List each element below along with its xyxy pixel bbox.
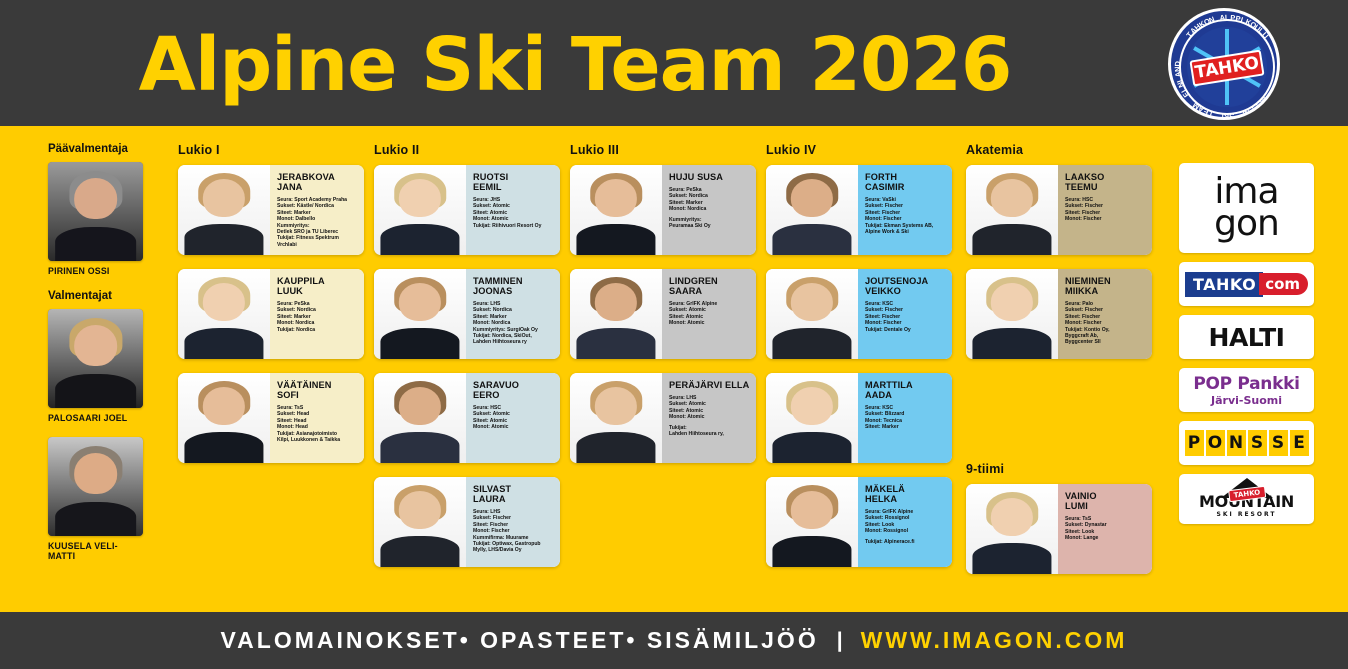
athlete-card[interactable]: PERÄJÄRVI ELLASeura: LHSSukset: AtomicSi… xyxy=(570,373,756,463)
athlete-card[interactable]: KAUPPILA LUUKSeura: PeSkaSukset: Nordica… xyxy=(178,269,364,359)
group-title: Lukio I xyxy=(178,143,364,157)
athlete-info: VAINIO LUMISeura: TsSSukset: DynastarSit… xyxy=(1058,484,1152,574)
coach-name: PIRINEN OSSI xyxy=(48,266,143,276)
spec-line: Peuramaa Ski Oy xyxy=(669,223,750,229)
athlete-card[interactable]: JOUTSENOJA VEIKKOSeura: KSCSukset: Fisch… xyxy=(766,269,952,359)
athlete-info: RUOTSI EEMILSeura: JHSSukset: AtomicSite… xyxy=(466,165,560,255)
group-title: Lukio II xyxy=(374,143,560,157)
athlete-info: LINDGREN SAARASeura: GrIFK AlpineSukset:… xyxy=(662,269,756,359)
pop-line1: POP Pankki xyxy=(1193,374,1299,394)
athlete-specs: Seura: TsSSukset: DynastarSiteet: LookMo… xyxy=(1065,516,1146,542)
athlete-photo xyxy=(178,269,270,359)
athlete-name: JOUTSENOJA VEIKKO xyxy=(865,276,946,296)
sponsor-pop-pankki[interactable]: POP Pankki Järvi-Suomi xyxy=(1179,368,1314,412)
spec-line: Monot: Atomic xyxy=(669,320,750,326)
ponsse-text: PONSSE xyxy=(1185,430,1309,456)
athlete-card[interactable]: LINDGREN SAARASeura: GrIFK AlpineSukset:… xyxy=(570,269,756,359)
athlete-photo xyxy=(178,165,270,255)
group-title: 9-tiimi xyxy=(966,462,1152,476)
spec-line: Mylly, LHS/Davia Oy xyxy=(473,547,554,553)
header-bar: Alpine Ski Team 2026 TAHKON ALPPIKOULUAL… xyxy=(0,0,1348,126)
athlete-name: KAUPPILA LUUK xyxy=(277,276,358,296)
halti-text: HALTI xyxy=(1209,323,1285,352)
athlete-photo xyxy=(766,477,858,567)
athlete-name: TAMMINEN JOONAS xyxy=(473,276,554,296)
footer-bar: VALOMAINOKSET• OPASTEET• SISÄMILJÖÖ | WW… xyxy=(0,612,1348,669)
spec-line: Byggcenter Sll xyxy=(1065,339,1146,345)
athlete-specs: Seura: HSCSukset: FischerSiteet: Fischer… xyxy=(1065,197,1146,223)
spec-line: Lahden Hiihtoseura ry xyxy=(473,339,554,345)
sponsor-tahko-com[interactable]: TAHKO com xyxy=(1179,262,1314,306)
athlete-photo xyxy=(570,165,662,255)
athlete-info: SILVAST LAURASeura: LHSSukset: FischerSi… xyxy=(466,477,560,567)
athlete-name: SILVAST LAURA xyxy=(473,484,554,504)
athlete-info: KAUPPILA LUUKSeura: PeSkaSukset: Nordica… xyxy=(270,269,364,359)
spec-line: Lahden Hiihtoseura ry, xyxy=(669,431,750,437)
athlete-photo xyxy=(766,269,858,359)
athlete-info: LAAKSO TEEMUSeura: HSCSukset: FischerSit… xyxy=(1058,165,1152,255)
page-title: Alpine Ski Team 2026 xyxy=(0,22,1150,108)
athlete-name: RUOTSI EEMIL xyxy=(473,172,554,192)
spec-line: Tukijat: Nordica xyxy=(277,327,358,333)
group-column-9-tiimi: 9-tiimiVAINIO LUMISeura: TsSSukset: Dyna… xyxy=(966,462,1152,588)
athlete-card[interactable]: FORTH CASIMIRSeura: VaSkiSukset: Fischer… xyxy=(766,165,952,255)
athlete-name: NIEMINEN MIIKKA xyxy=(1065,276,1146,296)
coach-card-1[interactable]: KUUSELA VELI-MATTI xyxy=(48,437,143,561)
athlete-info: FORTH CASIMIRSeura: VaSkiSukset: Fischer… xyxy=(858,165,952,255)
athlete-specs: Seura: JHSSukset: AtomicSiteet: AtomicMo… xyxy=(473,197,554,229)
ponsse-letter: S xyxy=(1248,430,1267,456)
athlete-info: NIEMINEN MIIKKASeura: PaloSukset: Fische… xyxy=(1058,269,1152,359)
athlete-name: MÄKELÄ HELKA xyxy=(865,484,946,504)
tahkocom-part2: com xyxy=(1259,273,1308,295)
athlete-card[interactable]: LAAKSO TEEMUSeura: HSCSukset: FischerSit… xyxy=(966,165,1152,255)
athlete-specs: Seura: LHSSukset: AtomicSiteet: AtomicMo… xyxy=(669,395,750,437)
athlete-specs: Seura: PaloSukset: FischerSiteet: Fische… xyxy=(1065,301,1146,346)
athlete-photo xyxy=(374,269,466,359)
athlete-photo xyxy=(570,269,662,359)
sponsor-halti[interactable]: HALTI xyxy=(1179,315,1314,359)
athlete-specs: Seura: TsSSukset: HeadSiteet: HeadMonot:… xyxy=(277,405,358,443)
athlete-info: MARTTILA AADASeura: KSCSukset: BlizzardM… xyxy=(858,373,952,463)
ponsse-letter: N xyxy=(1227,430,1246,456)
athlete-info: MÄKELÄ HELKASeura: GrIFK AlpineSukset: R… xyxy=(858,477,952,567)
group-title: Akatemia xyxy=(966,143,1152,157)
athlete-name: MARTTILA AADA xyxy=(865,380,946,400)
athlete-photo xyxy=(766,373,858,463)
sponsor-column: ima gon TAHKO com HALTI POP Pankki Järvi… xyxy=(1179,163,1314,533)
coach-card-head[interactable]: PIRINEN OSSI xyxy=(48,162,143,276)
athlete-info: JOUTSENOJA VEIKKOSeura: KSCSukset: Fisch… xyxy=(858,269,952,359)
tahko-alpine-school-logo: TAHKON ALPPIKOULUALPINE SKI TEAM FINLAND… xyxy=(1168,8,1280,120)
athlete-specs: Seura: Sport Academy PrahaSukset: Kästle… xyxy=(277,197,358,248)
athlete-specs: Seura: LHSSukset: FischerSiteet: Fischer… xyxy=(473,509,554,554)
spec-line: Tukijat: Alpinerace.fi xyxy=(865,539,946,545)
coach-name: KUUSELA VELI-MATTI xyxy=(48,541,143,561)
athlete-photo xyxy=(374,165,466,255)
athlete-card[interactable]: SILVAST LAURASeura: LHSSukset: FischerSi… xyxy=(374,477,560,567)
group-column-akatemia: AkatemiaLAAKSO TEEMUSeura: HSCSukset: Fi… xyxy=(966,143,1152,373)
athlete-name: VÄÄTÄINEN SOFI xyxy=(277,380,358,400)
athlete-specs: Seura: GrIFK AlpineSukset: RossignolSite… xyxy=(865,509,946,545)
athlete-specs: Seura: HSCSukset: AtomicSiteet: AtomicMo… xyxy=(473,405,554,431)
coach-photo xyxy=(48,309,143,408)
athlete-info: PERÄJÄRVI ELLASeura: LHSSukset: AtomicSi… xyxy=(662,373,756,463)
head-coach-title: Päävalmentaja xyxy=(48,143,168,155)
athlete-name: SARAVUO EERO xyxy=(473,380,554,400)
athlete-name: LAAKSO TEEMU xyxy=(1065,172,1146,192)
athlete-photo xyxy=(766,165,858,255)
athlete-info: TAMMINEN JOONASSeura: LHSSukset: Nordica… xyxy=(466,269,560,359)
athlete-specs: Seura: VaSkiSukset: FischerSiteet: Fisch… xyxy=(865,197,946,235)
athlete-info: JERABKOVA JANASeura: Sport Academy Praha… xyxy=(270,165,364,255)
athlete-card[interactable]: VÄÄTÄINEN SOFISeura: TsSSukset: HeadSite… xyxy=(178,373,364,463)
spec-line: Tukijat: Dentale Oy xyxy=(865,327,946,333)
spec-line: Kilpi, Luukkonen & Taikka xyxy=(277,437,358,443)
athlete-photo xyxy=(966,269,1058,359)
athlete-info: SARAVUO EEROSeura: HSCSukset: AtomicSite… xyxy=(466,373,560,463)
athlete-photo xyxy=(966,484,1058,574)
coach-name: PALOSAARI JOEL xyxy=(48,413,143,423)
coaches-column: Päävalmentaja PIRINEN OSSI Valmentajat P… xyxy=(48,143,168,575)
spec-line: Monot: Lange xyxy=(1065,535,1146,541)
imagon-line2: gon xyxy=(1214,208,1279,240)
spec-line: Monot: Atomic xyxy=(473,424,554,430)
spec-line: Tukijat: Riihivuori Resort Oy xyxy=(473,223,554,229)
spec-line: Monot: Fischer xyxy=(1065,216,1146,222)
athlete-specs: Seura: KSCSukset: BlizzardMonot: Tecnica… xyxy=(865,405,946,431)
athlete-info: HUJU SUSASeura: PeSkaSukset: NordicaSite… xyxy=(662,165,756,255)
athlete-name: PERÄJÄRVI ELLA xyxy=(669,380,750,390)
athlete-photo xyxy=(178,373,270,463)
coach-photo xyxy=(48,162,143,261)
athlete-card[interactable]: JERABKOVA JANASeura: Sport Academy Praha… xyxy=(178,165,364,255)
ponsse-letter: P xyxy=(1185,430,1204,456)
coach-card-0[interactable]: PALOSAARI JOEL xyxy=(48,309,143,423)
mountain-line2: SKI RESORT xyxy=(1199,511,1294,518)
tahkocom-part1: TAHKO xyxy=(1185,272,1263,297)
spec-line: Siteet: Marker xyxy=(865,424,946,430)
footer-website[interactable]: WWW.IMAGON.COM xyxy=(861,627,1128,654)
athlete-card[interactable]: TAMMINEN JOONASSeura: LHSSukset: Nordica… xyxy=(374,269,560,359)
athlete-card[interactable]: MARTTILA AADASeura: KSCSukset: BlizzardM… xyxy=(766,373,952,463)
ponsse-letter: S xyxy=(1269,430,1288,456)
athlete-card[interactable]: RUOTSI EEMILSeura: JHSSukset: AtomicSite… xyxy=(374,165,560,255)
group-title: Lukio IV xyxy=(766,143,952,157)
athlete-card[interactable]: VAINIO LUMISeura: TsSSukset: DynastarSit… xyxy=(966,484,1152,574)
athlete-specs: Seura: LHSSukset: NordicaSiteet: MarkerM… xyxy=(473,301,554,346)
coaches-title: Valmentajat xyxy=(48,290,168,302)
athlete-name: JERABKOVA JANA xyxy=(277,172,358,192)
group-column-lukio-iv: Lukio IVFORTH CASIMIRSeura: VaSkiSukset:… xyxy=(766,143,952,581)
athlete-photo xyxy=(374,373,466,463)
athlete-card[interactable]: HUJU SUSASeura: PeSkaSukset: NordicaSite… xyxy=(570,165,756,255)
footer-separator: | xyxy=(837,629,843,653)
athlete-photo xyxy=(570,373,662,463)
athlete-name: VAINIO LUMI xyxy=(1065,491,1146,511)
athlete-card[interactable]: NIEMINEN MIIKKASeura: PaloSukset: Fische… xyxy=(966,269,1152,359)
athlete-photo xyxy=(374,477,466,567)
athlete-card[interactable]: SARAVUO EEROSeura: HSCSukset: AtomicSite… xyxy=(374,373,560,463)
sponsor-tahko-mountain[interactable]: TAHKO MOUNTAIN SKI RESORT xyxy=(1179,474,1314,524)
sponsor-imagon[interactable]: ima gon xyxy=(1179,163,1314,253)
athlete-specs: Seura: PeSkaSukset: NordicaSiteet: Marke… xyxy=(669,187,750,229)
ponsse-letter: O xyxy=(1206,430,1225,456)
athlete-card[interactable]: MÄKELÄ HELKASeura: GrIFK AlpineSukset: R… xyxy=(766,477,952,567)
coach-photo xyxy=(48,437,143,536)
group-column-lukio-iii: Lukio IIIHUJU SUSASeura: PeSkaSukset: No… xyxy=(570,143,756,477)
ponsse-letter: E xyxy=(1290,430,1309,456)
sponsor-ponsse[interactable]: PONSSE xyxy=(1179,421,1314,465)
athlete-specs: Seura: KSCSukset: FischerSiteet: Fischer… xyxy=(865,301,946,333)
group-title: Lukio III xyxy=(570,143,756,157)
footer-services: VALOMAINOKSET• OPASTEET• SISÄMILJÖÖ xyxy=(221,627,819,654)
athlete-specs: Seura: PeSkaSukset: NordicaSiteet: Marke… xyxy=(277,301,358,333)
pop-line2: Järvi-Suomi xyxy=(1193,394,1299,407)
athlete-specs: Seura: GrIFK AlpineSukset: AtomicSiteet:… xyxy=(669,301,750,327)
athlete-photo xyxy=(966,165,1058,255)
spec-line: Vrchlabi xyxy=(277,242,358,248)
athlete-name: LINDGREN SAARA xyxy=(669,276,750,296)
athlete-name: HUJU SUSA xyxy=(669,172,750,182)
spec-line: Alpine Work & Ski xyxy=(865,229,946,235)
athlete-name: FORTH CASIMIR xyxy=(865,172,946,192)
group-column-lukio-ii: Lukio IIRUOTSI EEMILSeura: JHSSukset: At… xyxy=(374,143,560,581)
athlete-info: VÄÄTÄINEN SOFISeura: TsSSukset: HeadSite… xyxy=(270,373,364,463)
group-column-lukio-i: Lukio IJERABKOVA JANASeura: Sport Academ… xyxy=(178,143,364,477)
